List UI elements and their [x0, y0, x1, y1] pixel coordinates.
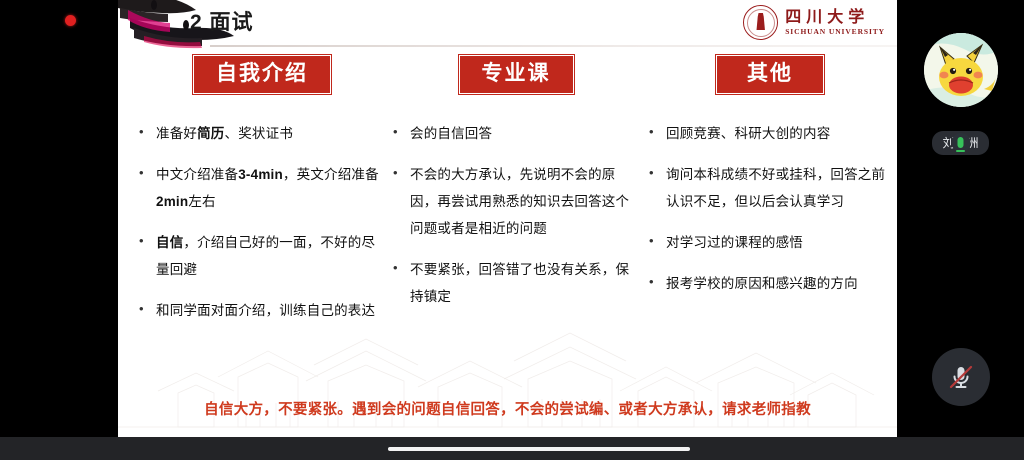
laser-pointer-dot: [65, 15, 76, 26]
shared-slide[interactable]: 2 面试 四川大学 SICHUAN UNIVERSITY 自我介绍 准备好简历、…: [118, 0, 897, 437]
bullet-emphasis: 2min: [156, 194, 188, 209]
mic-on-icon: [958, 137, 964, 148]
mic-muted-icon: [946, 362, 976, 392]
bullet-text: 左右: [188, 194, 215, 209]
bullet-item: 中文介绍准备3-4min，英文介绍准备2min左右: [136, 161, 388, 215]
page-title: 2 面试: [190, 6, 254, 36]
bullet-item: 和同学面对面介绍，训练自己的表达: [136, 297, 388, 324]
bullet-list: 会的自信回答不会的大方承认，先说明不会的原因，再尝试用熟悉的知识去回答这个问题或…: [390, 120, 642, 310]
bullet-item: 不要紧张，回答错了也没有关系，保持镇定: [390, 256, 642, 310]
avatar: [924, 33, 998, 107]
bullet-item: 准备好简历、奖状证书: [136, 120, 388, 147]
header-divider: [210, 45, 897, 47]
slide-column: 自我介绍 准备好简历、奖状证书中文介绍准备3-4min，英文介绍准备2min左右…: [136, 55, 388, 338]
bullet-emphasis: 3-4min: [238, 167, 283, 182]
participant-rail: 刘明洲: [897, 0, 1024, 437]
bullet-text: 中文介绍准备: [156, 167, 238, 182]
bullet-text: 对学习过的课程的感悟: [666, 235, 803, 250]
mute-toggle-button[interactable]: [932, 348, 990, 406]
university-seal-icon: [743, 5, 778, 40]
pikachu-avatar-icon: [924, 33, 998, 107]
bullet-text: 回顾竞赛、科研大创的内容: [666, 126, 830, 141]
system-navigation-bar: [0, 437, 1024, 460]
university-logo: 四川大学 SICHUAN UNIVERSITY: [743, 5, 885, 40]
bullet-list: 回顾竞赛、科研大创的内容询问本科成绩不好或挂科，回答之前认识不足，但以后会认真学…: [646, 120, 894, 297]
bullet-item: 自信，介绍自己好的一面，不好的尽量回避: [136, 229, 388, 283]
slide-header: 2 面试 四川大学 SICHUAN UNIVERSITY: [118, 0, 897, 47]
bullet-item: 不会的大方承认，先说明不会的原因，再尝试用熟悉的知识去回答这个问题或者是相近的问…: [390, 161, 642, 242]
bullet-emphasis: 自信: [156, 235, 183, 250]
bullet-item: 会的自信回答: [390, 120, 642, 147]
mic-status-badge: [951, 133, 970, 152]
university-name-cn: 四川大学: [785, 9, 885, 25]
university-name-en: SICHUAN UNIVERSITY: [785, 28, 885, 36]
participant-tile[interactable]: 刘明洲: [910, 33, 1011, 155]
bullet-text: 报考学校的原因和感兴趣的方向: [666, 276, 858, 291]
bullet-text: 准备好: [156, 126, 197, 141]
bullet-text: 、奖状证书: [225, 126, 294, 141]
bullet-text: 和同学面对面介绍，训练自己的表达: [156, 303, 375, 318]
bullet-item: 询问本科成绩不好或挂科，回答之前认识不足，但以后会认真学习: [646, 161, 894, 215]
slide-footer-note: 自信大方，不要紧张。遇到会的问题自信回答，不会的尝试编、或者大方承认，请求老师指…: [118, 398, 897, 419]
slide-column: 专业课 会的自信回答不会的大方承认，先说明不会的原因，再尝试用熟悉的知识去回答这…: [390, 55, 642, 324]
slide-column: 其他 回顾竞赛、科研大创的内容询问本科成绩不好或挂科，回答之前认识不足，但以后会…: [646, 55, 894, 311]
column-heading: 专业课: [459, 55, 574, 94]
bullet-item: 报考学校的原因和感兴趣的方向: [646, 270, 894, 297]
bullet-item: 回顾竞赛、科研大创的内容: [646, 120, 894, 147]
bullet-text: 不会的大方承认，先说明不会的原因，再尝试用熟悉的知识去回答这个问题或者是相近的问…: [410, 167, 629, 236]
bullet-text: ，英文介绍准备: [283, 167, 379, 182]
column-heading: 其他: [716, 55, 824, 94]
bullet-emphasis: 简历: [197, 126, 224, 141]
column-heading: 自我介绍: [193, 55, 331, 94]
bullet-text: 询问本科成绩不好或挂科，回答之前认识不足，但以后会认真学习: [666, 167, 885, 209]
bullet-list: 准备好简历、奖状证书中文介绍准备3-4min，英文介绍准备2min左右自信，介绍…: [136, 120, 388, 324]
meeting-screen: 2 面试 四川大学 SICHUAN UNIVERSITY 自我介绍 准备好简历、…: [0, 0, 1024, 460]
bullet-item: 对学习过的课程的感悟: [646, 229, 894, 256]
bullet-text: 不要紧张，回答错了也没有关系，保持镇定: [410, 262, 629, 304]
bullet-text: ，介绍自己好的一面，不好的尽量回避: [156, 235, 375, 277]
bullet-text: 会的自信回答: [410, 126, 492, 141]
home-indicator[interactable]: [388, 447, 690, 451]
